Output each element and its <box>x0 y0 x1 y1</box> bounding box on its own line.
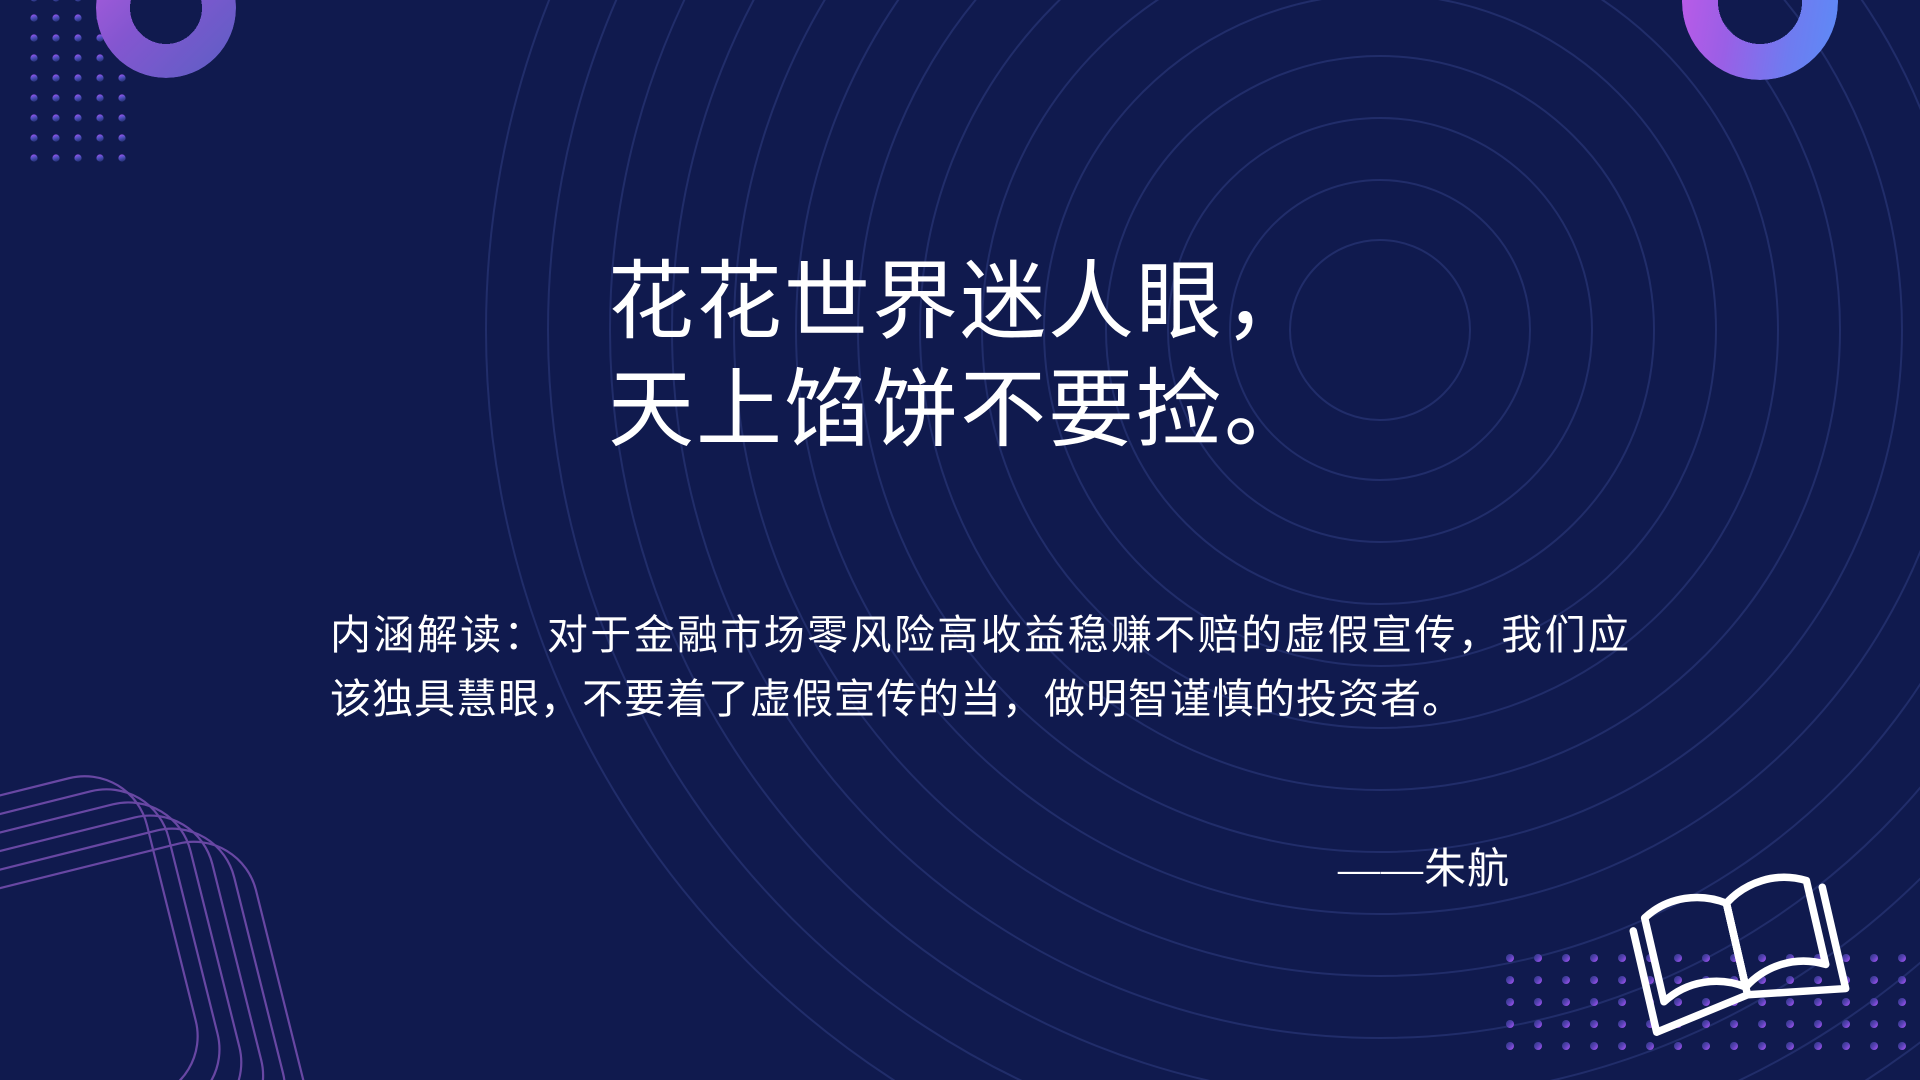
slide-canvas: 花花世界迷人眼， 天上馅饼不要捡。 内涵解读：对于金融市场零风险高收益稳赚不赔的… <box>0 0 1920 1080</box>
attribution-text: ——朱航 <box>330 840 1510 900</box>
slide-content: 花花世界迷人眼， 天上馅饼不要捡。 内涵解读：对于金融市场零风险高收益稳赚不赔的… <box>0 0 1920 1080</box>
title-line-2: 天上馅饼不要捡。 <box>0 356 1920 464</box>
body-block: 内涵解读：对于金融市场零风险高收益稳赚不赔的虚假宣传，我们应该独具慧眼，不要着了… <box>330 603 1630 731</box>
body-paragraph: 内涵解读：对于金融市场零风险高收益稳赚不赔的虚假宣传，我们应该独具慧眼，不要着了… <box>330 603 1630 731</box>
page-title: 花花世界迷人眼， 天上馅饼不要捡。 <box>0 248 1920 464</box>
title-line-1: 花花世界迷人眼， <box>0 248 1920 356</box>
